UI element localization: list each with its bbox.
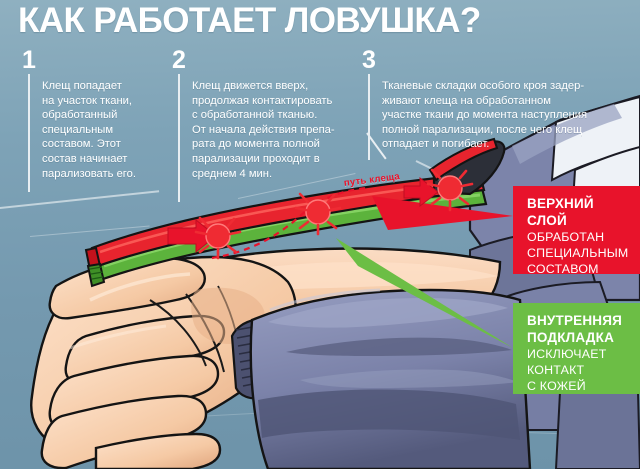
- callout-top-headline-1: ВЕРХНИЙ: [527, 196, 630, 213]
- step-1-line: состав начинает: [42, 152, 168, 167]
- step-2-number: 2: [172, 48, 186, 73]
- callout-inner-sub-1: ИСКЛЮЧАЕТ: [527, 346, 630, 362]
- step-2-line: среднем 4 мин.: [192, 167, 352, 182]
- step-3-rule: [368, 74, 370, 160]
- step-2-line: с обработанной тканью.: [192, 108, 352, 123]
- step-3-text: Тканевые складки особого кроя задер- жив…: [382, 79, 626, 152]
- callout-top-headline-2: СЛОЙ: [527, 213, 630, 230]
- infographic-canvas: КАК РАБОТАЕТ ЛОВУШКА? 1 Клещ попадает на…: [0, 0, 640, 469]
- step-1-line: Клещ попадает: [42, 79, 168, 94]
- step-1-line: парализовать его.: [42, 167, 168, 182]
- step-2-line: парализации проходит в: [192, 152, 352, 167]
- step-2-rule: [178, 74, 180, 202]
- step-3-line: участке ткани до момента наступления: [382, 108, 626, 123]
- step-2-line: От начала действия препа-: [192, 123, 352, 138]
- step-1-line: обработанный: [42, 108, 168, 123]
- callout-inner-lining: ВНУТРЕННЯЯ ПОДКЛАДКА ИСКЛЮЧАЕТ КОНТАКТ С…: [513, 303, 640, 394]
- callout-top-layer: ВЕРХНИЙ СЛОЙ ОБРАБОТАН СПЕЦИАЛЬНЫМ СОСТА…: [513, 186, 640, 274]
- step-1-line: на участок ткани,: [42, 94, 168, 109]
- callout-inner-headline-2: ПОДКЛАДКА: [527, 330, 630, 347]
- step-1-text: Клещ попадает на участок ткани, обработа…: [42, 79, 168, 181]
- step-1-rule: [28, 74, 30, 192]
- step-3-line: Тканевые складки особого кроя задер-: [382, 79, 626, 94]
- step-3-line: живают клеща на обработанном: [382, 94, 626, 109]
- step-3-line: полной парализации, после чего клещ: [382, 123, 626, 138]
- callout-inner-sub-3: С КОЖЕЙ: [527, 378, 630, 394]
- step-2-line: рата до момента полной: [192, 137, 352, 152]
- callout-top-sub-3: СОСТАВОМ: [527, 261, 630, 277]
- step-2-line: Клещ движется вверх,: [192, 79, 352, 94]
- page-title: КАК РАБОТАЕТ ЛОВУШКА?: [18, 1, 481, 41]
- callout-top-sub-2: СПЕЦИАЛЬНЫМ: [527, 245, 630, 261]
- callout-inner-headline-1: ВНУТРЕННЯЯ: [527, 313, 630, 330]
- callout-top-sub-1: ОБРАБОТАН: [527, 229, 630, 245]
- sleeve-lower: [251, 290, 530, 469]
- step-3-line: отпадает и погибает.: [382, 137, 626, 152]
- callout-inner-sub-2: КОНТАКТ: [527, 362, 630, 378]
- step-2-text: Клещ движется вверх, продолжая контактир…: [192, 79, 352, 181]
- step-1-line: составом. Этот: [42, 137, 168, 152]
- step-3-number: 3: [362, 48, 376, 73]
- step-2-line: продолжая контактировать: [192, 94, 352, 109]
- step-1-line: специальным: [42, 123, 168, 138]
- step-1-number: 1: [22, 48, 36, 73]
